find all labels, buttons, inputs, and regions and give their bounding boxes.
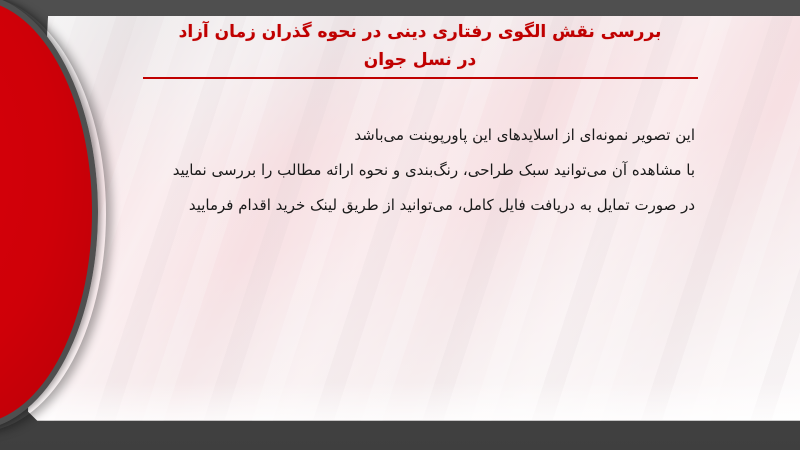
slide-title: بررسی نقش الگوی رفتاری دینی در نحوه گذرا… xyxy=(120,18,720,79)
title-underline-rule xyxy=(143,77,698,79)
body-line-2: با مشاهده آن می‌توانید سبک طراحی، رنگ‌بن… xyxy=(110,153,695,188)
slide-title-line-1: بررسی نقش الگوی رفتاری دینی در نحوه گذرا… xyxy=(120,18,720,46)
slide-title-line-2: در نسل جوان xyxy=(120,46,720,74)
body-line-1: این تصویر نمونه‌ای از اسلایدهای این پاور… xyxy=(110,118,695,153)
slide-body: این تصویر نمونه‌ای از اسلایدهای این پاور… xyxy=(110,118,695,223)
presentation-slide: بررسی نقش الگوی رفتاری دینی در نحوه گذرا… xyxy=(0,0,800,450)
body-line-3: در صورت تمایل به دریافت فایل کامل، می‌تو… xyxy=(110,188,695,223)
